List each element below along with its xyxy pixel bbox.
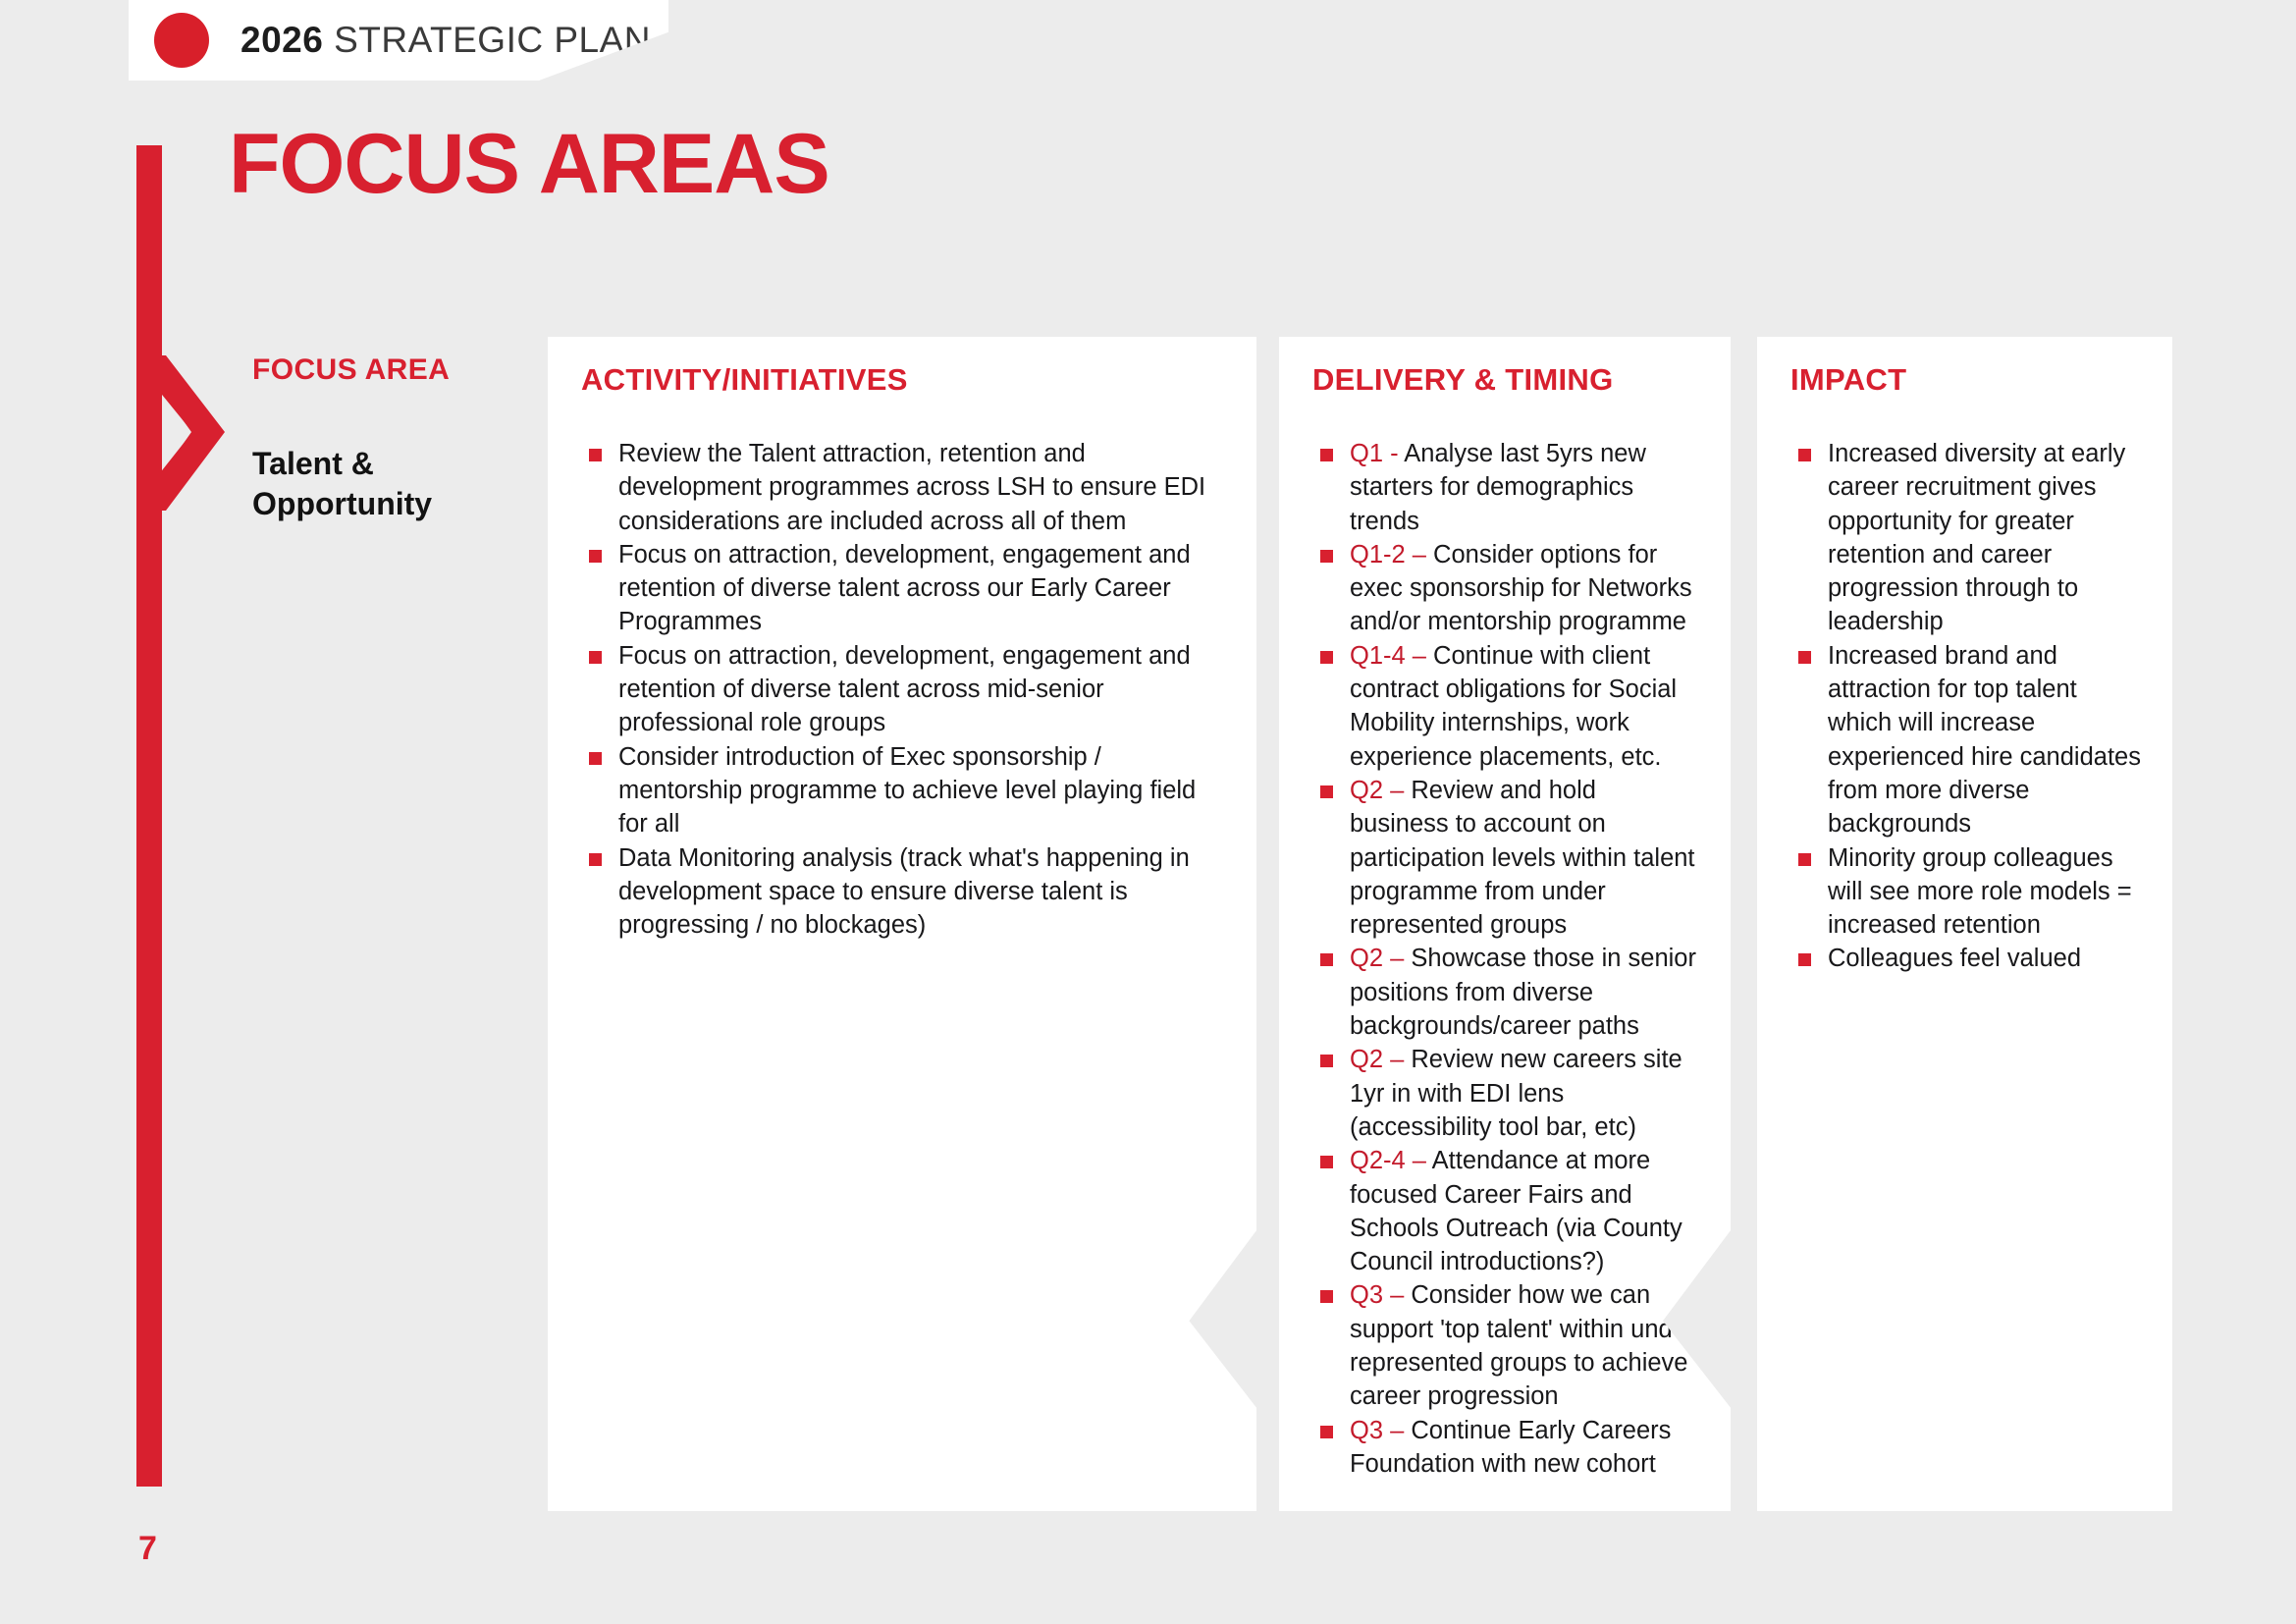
red-chevron-rail	[136, 137, 264, 1492]
quarter-prefix: Q1 -	[1350, 440, 1404, 467]
list-item: Q2 – Review new careers site 1yr in with…	[1312, 1043, 1701, 1144]
list-item: Q1 - Analyse last 5yrs new starters for …	[1312, 437, 1701, 538]
focus-area-column: FOCUS AREA Talent & Opportunity	[252, 353, 517, 524]
quarter-prefix: Q3 –	[1350, 1417, 1411, 1444]
list-item: Q2 – Review and hold business to account…	[1312, 774, 1701, 942]
list-item: Q2 – Showcase those in senior positions …	[1312, 942, 1701, 1043]
list-item: Review the Talent attraction, retention …	[581, 437, 1227, 538]
card-impact: IMPACT Increased diversity at early care…	[1757, 337, 2172, 1511]
list-item: Minority group colleagues will see more …	[1790, 841, 2143, 943]
card-activity: ACTIVITY/INITIATIVES Review the Talent a…	[548, 337, 1256, 1511]
quarter-prefix: Q2 –	[1350, 1046, 1411, 1073]
header-title: 2026 STRATEGIC PLAN	[240, 20, 651, 61]
list-item: Focus on attraction, development, engage…	[581, 639, 1227, 740]
card-delivery: DELIVERY & TIMING Q1 - Analyse last 5yrs…	[1279, 337, 1731, 1511]
slide-canvas: 2026 STRATEGIC PLAN FOCUS AREAS FOCUS AR…	[0, 0, 2296, 1624]
focus-area-kicker: FOCUS AREA	[252, 353, 517, 387]
list-item-text: Review the Talent attraction, retention …	[618, 440, 1205, 535]
list-item: Q3 – Continue Early Careers Foundation w…	[1312, 1414, 1701, 1482]
list-item: Data Monitoring analysis (track what's h…	[581, 841, 1227, 943]
header-year: 2026	[240, 20, 323, 60]
list-item-text: Minority group colleagues will see more …	[1828, 844, 2132, 940]
list-item-text: Focus on attraction, development, engage…	[618, 541, 1191, 636]
bullet-list-activity: Review the Talent attraction, retention …	[581, 437, 1227, 942]
quarter-prefix: Q3 –	[1350, 1281, 1411, 1309]
bullet-list-impact: Increased diversity at early career recr…	[1790, 437, 2143, 976]
card-title-impact: IMPACT	[1790, 362, 2143, 398]
list-item: Q2-4 – Attendance at more focused Career…	[1312, 1144, 1701, 1278]
list-item: Focus on attraction, development, engage…	[581, 538, 1227, 639]
page-number: 7	[138, 1530, 157, 1568]
list-item-text: Consider introduction of Exec sponsorshi…	[618, 743, 1196, 839]
brand-dot-icon	[154, 13, 209, 68]
list-item-text: Colleagues feel valued	[1828, 945, 2081, 972]
header-label: STRATEGIC PLAN	[323, 20, 651, 60]
header-badge: 2026 STRATEGIC PLAN	[129, 0, 668, 81]
card-title-activity: ACTIVITY/INITIATIVES	[581, 362, 1227, 398]
quarter-prefix: Q1-2 –	[1350, 541, 1433, 568]
list-item: Increased diversity at early career recr…	[1790, 437, 2143, 639]
quarter-prefix: Q2 –	[1350, 945, 1411, 972]
list-item-text: Increased diversity at early career recr…	[1828, 440, 2125, 635]
list-item: Q3 – Consider how we can support 'top ta…	[1312, 1278, 1701, 1413]
list-item-text: Focus on attraction, development, engage…	[618, 642, 1191, 737]
list-item: Q1-4 – Continue with client contract obl…	[1312, 639, 1701, 774]
card-title-delivery: DELIVERY & TIMING	[1312, 362, 1701, 398]
quarter-prefix: Q2-4 –	[1350, 1147, 1432, 1174]
list-item: Increased brand and attraction for top t…	[1790, 639, 2143, 841]
list-item: Colleagues feel valued	[1790, 942, 2143, 975]
list-item: Consider introduction of Exec sponsorshi…	[581, 740, 1227, 841]
quarter-prefix: Q1-4 –	[1350, 642, 1433, 670]
list-item-text: Increased brand and attraction for top t…	[1828, 642, 2141, 838]
quarter-prefix: Q2 –	[1350, 777, 1411, 804]
list-item-text: Data Monitoring analysis (track what's h…	[618, 844, 1190, 940]
page-title: FOCUS AREAS	[229, 122, 829, 206]
list-item: Q1-2 – Consider options for exec sponsor…	[1312, 538, 1701, 639]
bullet-list-delivery: Q1 - Analyse last 5yrs new starters for …	[1312, 437, 1701, 1481]
focus-area-name: Talent & Opportunity	[252, 444, 517, 524]
